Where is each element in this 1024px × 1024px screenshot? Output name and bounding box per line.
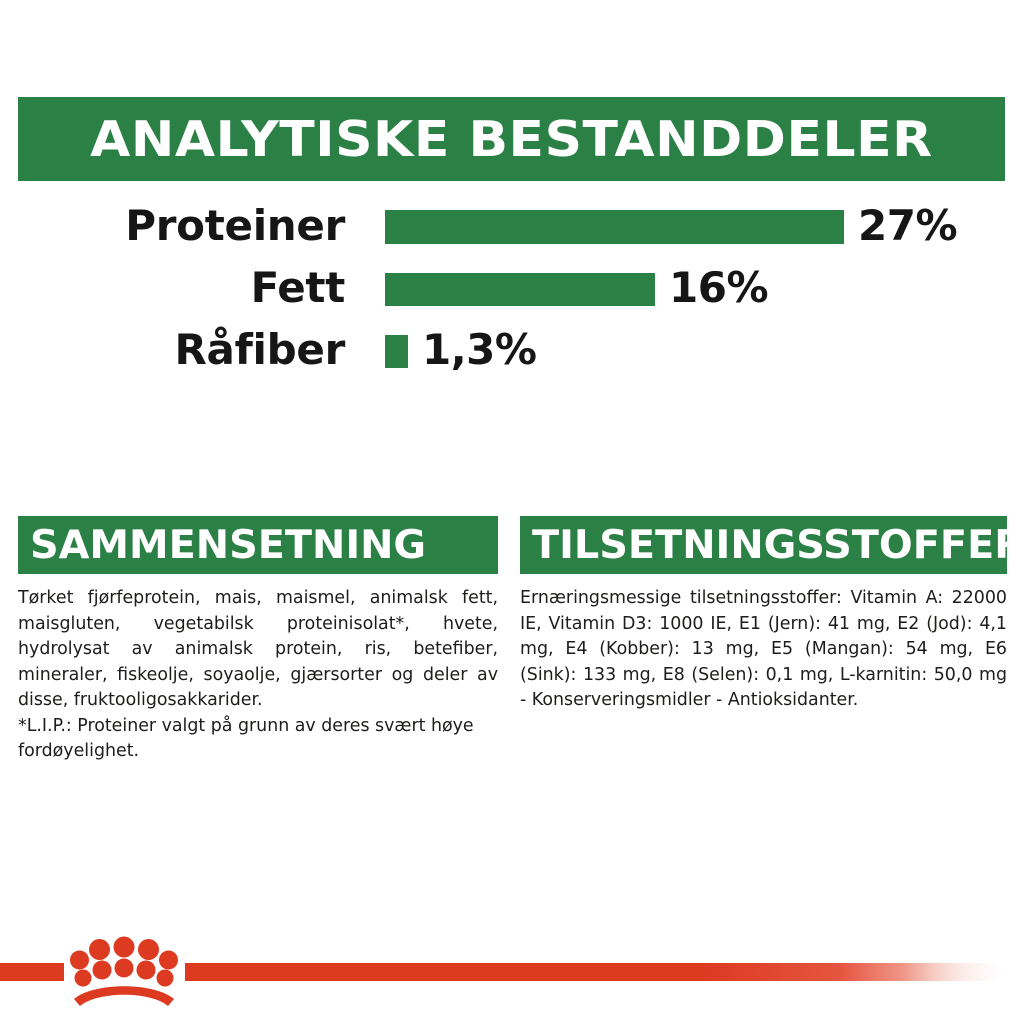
- additives-heading: TILSETNINGSSTOFFER: [532, 526, 1024, 565]
- chart-row: Proteiner 27%: [0, 198, 1024, 260]
- additives-text: Ernæringsmessige tilsetningsstoffer: Vit…: [520, 586, 1007, 714]
- page-title: ANALYTISKE BESTANDDELER: [90, 115, 932, 164]
- bar-value-label: 1,3%: [422, 322, 536, 378]
- analytical-constituents-banner: ANALYTISKE BESTANDDELER: [18, 97, 1005, 181]
- chart-row: Fett 16%: [0, 260, 1024, 322]
- brand-footer: [0, 950, 1024, 1024]
- bar-rafiber: [385, 335, 408, 368]
- composition-section: SAMMENSETNING Tørket fjørfeprotein, mais…: [18, 516, 498, 765]
- analytical-constituents-chart: Proteiner 27% Fett 16% Råfiber 1,3%: [0, 198, 1024, 398]
- footer-fade: [904, 950, 1024, 1024]
- crown-icon: [68, 927, 180, 1007]
- composition-body: Tørket fjørfeprotein, mais, maismel, ani…: [18, 586, 498, 765]
- bar-value-label: 27%: [858, 198, 957, 254]
- bar-category-label: Fett: [60, 260, 345, 316]
- footer-rule-right: [185, 963, 1024, 981]
- additives-section: TILSETNINGSSTOFFER (pr. kg) Ernæringsmes…: [520, 516, 1007, 714]
- composition-heading-banner: SAMMENSETNING: [18, 516, 498, 574]
- bar-fett: [385, 273, 655, 306]
- additives-body: Ernæringsmessige tilsetningsstoffer: Vit…: [520, 586, 1007, 714]
- composition-footnote: *L.I.P.: Proteiner valgt på grunn av der…: [18, 714, 498, 765]
- bar-category-label: Proteiner: [60, 198, 345, 254]
- bar-category-label: Råfiber: [60, 322, 345, 378]
- footer-rule-left: [0, 963, 64, 981]
- product-info-panel: ANALYTISKE BESTANDDELER Proteiner 27% Fe…: [0, 0, 1024, 1024]
- additives-heading-banner: TILSETNINGSSTOFFER (pr. kg): [520, 516, 1007, 574]
- composition-text: Tørket fjørfeprotein, mais, maismel, ani…: [18, 586, 498, 714]
- chart-row: Råfiber 1,3%: [0, 322, 1024, 384]
- composition-heading: SAMMENSETNING: [30, 526, 426, 565]
- bar-value-label: 16%: [669, 260, 768, 316]
- bar-proteiner: [385, 210, 844, 244]
